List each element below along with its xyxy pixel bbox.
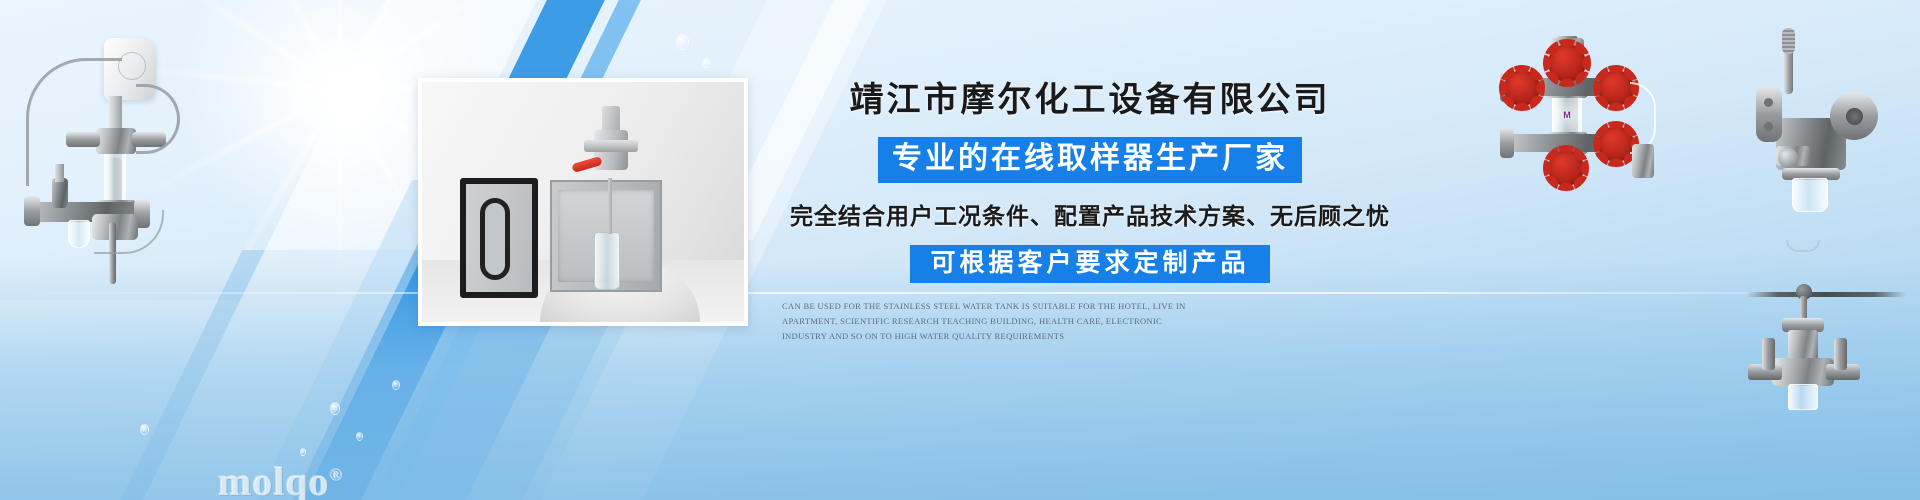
water-droplet: [300, 448, 306, 456]
right-top-equipment-illustration: [1762, 22, 1920, 202]
quality-seal-icon: M: [1550, 98, 1584, 132]
customization-badge: 可根据客户要求定制产品: [910, 245, 1269, 283]
handwheel-icon: [1548, 150, 1584, 186]
product-photo: [418, 78, 748, 326]
handwheel-icon: [1598, 70, 1634, 106]
right-bottom-equipment-illustration: [1742, 226, 1920, 406]
handwheel-icon: [1504, 70, 1540, 106]
handwheel-icon: [1598, 126, 1634, 162]
water-droplet: [330, 402, 340, 415]
brand-watermark: molqo®: [218, 458, 343, 500]
value-proposition-line: 完全结合用户工况条件、配置产品技术方案、无后顾之忧: [780, 197, 1400, 231]
headline-badge: 专业的在线取样器生产厂家: [878, 137, 1302, 183]
right-cross-equipment-illustration: M: [1480, 20, 1700, 170]
promo-banner: M 靖江市摩尔化工设备有限公司 专业的在线取样器: [0, 0, 1920, 500]
water-droplet: [392, 380, 400, 390]
left-equipment-illustration: [8, 24, 188, 274]
brand-watermark-text: molqo: [218, 459, 330, 500]
water-droplet: [702, 58, 710, 68]
water-droplet: [356, 432, 363, 441]
handwheel-icon: [1548, 44, 1586, 82]
registered-mark-icon: ®: [330, 466, 344, 485]
company-name: 靖江市摩尔化工设备有限公司: [780, 72, 1400, 121]
water-droplet: [676, 34, 689, 50]
english-description: CAN BE USED FOR THE STAINLESS STEEL WATE…: [782, 299, 1192, 344]
water-droplet: [140, 424, 149, 435]
headline-text-block: 靖江市摩尔化工设备有限公司 专业的在线取样器生产厂家 完全结合用户工况条件、配置…: [780, 72, 1400, 343]
